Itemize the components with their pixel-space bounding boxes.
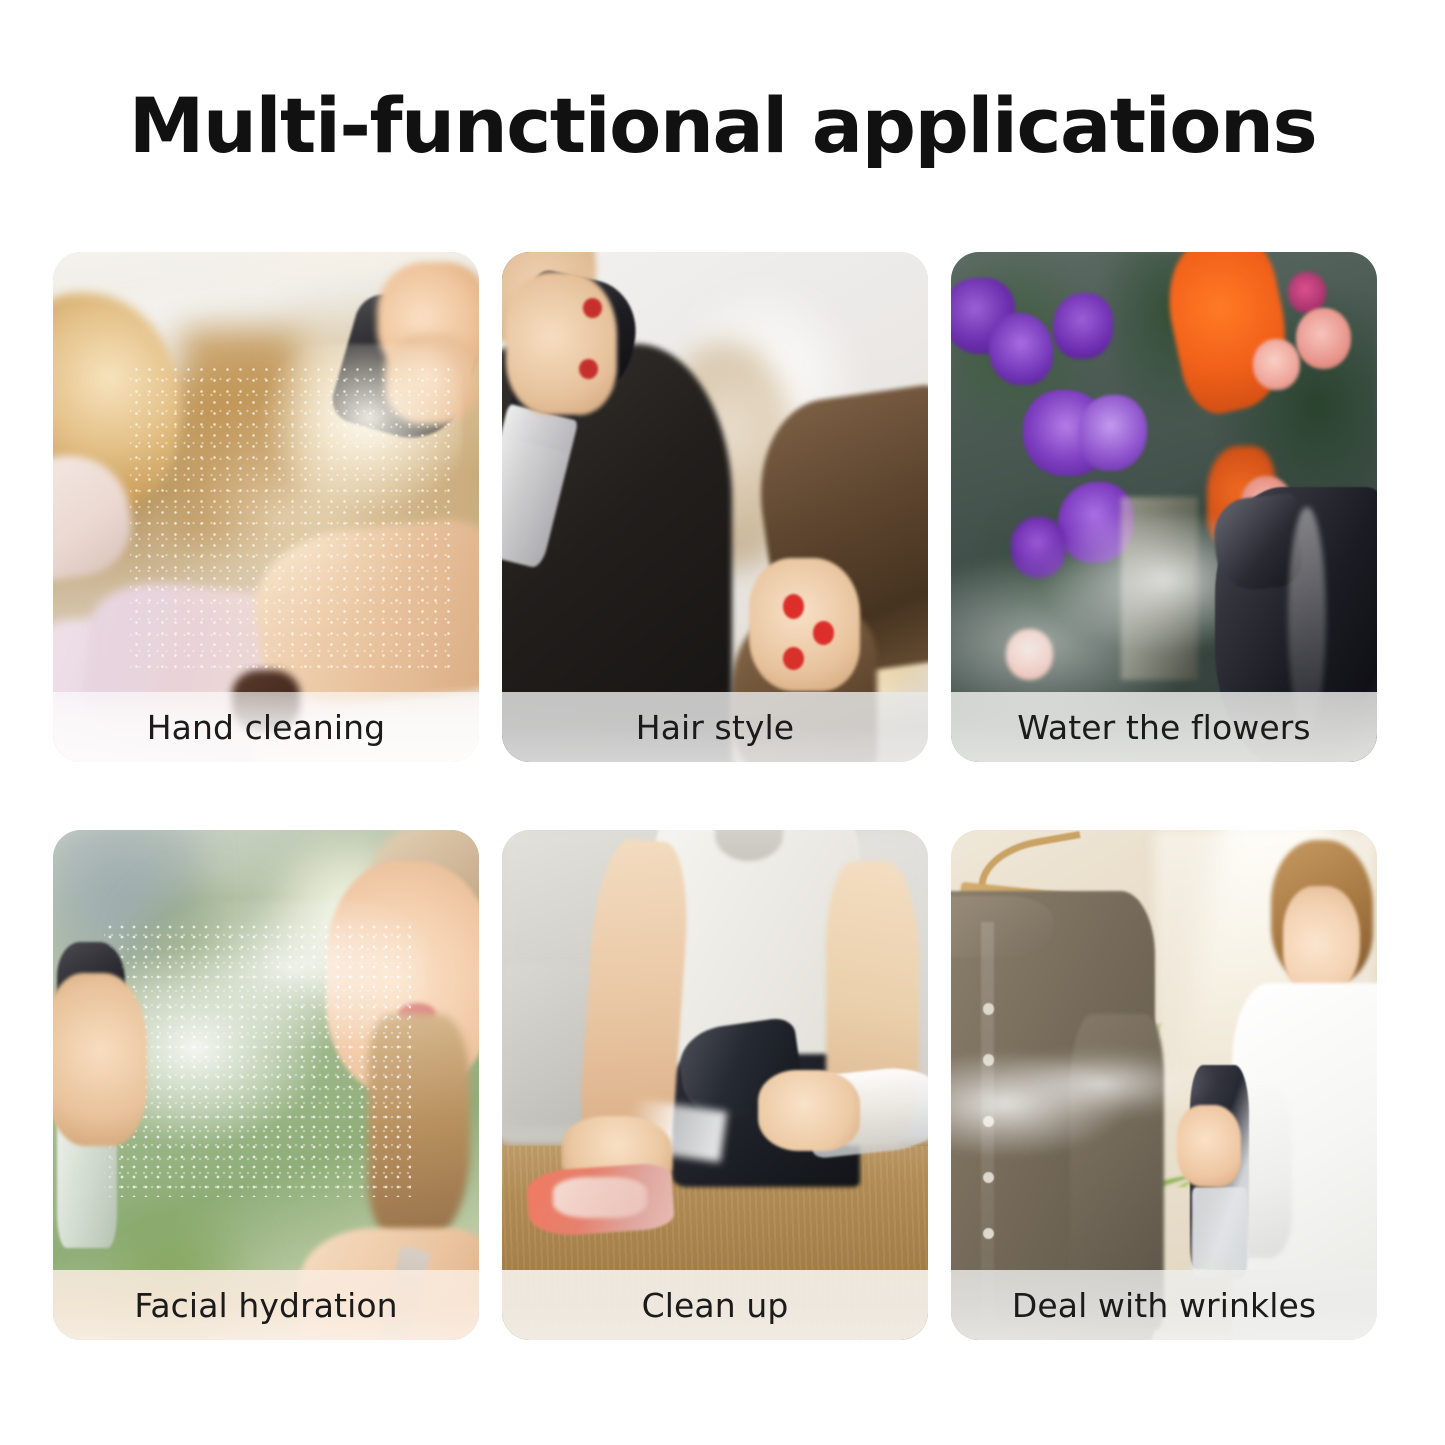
tile-caption-hand-cleaning: Hand cleaning xyxy=(53,692,479,762)
photo-water-the-flowers xyxy=(951,252,1377,762)
tile-water-the-flowers[interactable]: Water the flowers xyxy=(951,252,1377,762)
tile-hair-style[interactable]: Hair style xyxy=(502,252,928,762)
applications-grid: Hand cleaning Hair style xyxy=(53,252,1392,1340)
photo-facial-hydration xyxy=(53,830,479,1340)
photo-deal-with-wrinkles xyxy=(951,830,1377,1340)
tile-caption-deal-with-wrinkles: Deal with wrinkles xyxy=(951,1270,1377,1340)
tile-caption-water-the-flowers: Water the flowers xyxy=(951,692,1377,762)
tile-caption-hair-style: Hair style xyxy=(502,692,928,762)
tile-clean-up[interactable]: Clean up xyxy=(502,830,928,1340)
tile-hand-cleaning[interactable]: Hand cleaning xyxy=(53,252,479,762)
photo-hand-cleaning xyxy=(53,252,479,762)
photo-hair-style xyxy=(502,252,928,762)
page-title: Multi-functional applications xyxy=(0,84,1445,168)
tile-deal-with-wrinkles[interactable]: Deal with wrinkles xyxy=(951,830,1377,1340)
tile-caption-facial-hydration: Facial hydration xyxy=(53,1270,479,1340)
tile-facial-hydration[interactable]: Facial hydration xyxy=(53,830,479,1340)
photo-clean-up xyxy=(502,830,928,1340)
tile-caption-clean-up: Clean up xyxy=(502,1270,928,1340)
